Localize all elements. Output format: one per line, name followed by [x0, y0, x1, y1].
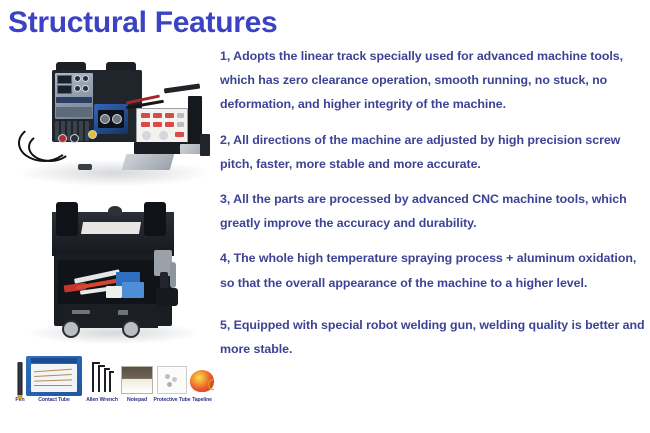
control-button[interactable] [153, 113, 162, 118]
allen-wrench-icon [85, 354, 119, 398]
case-wheel-left [62, 320, 80, 338]
features-list: 1, Adopts the linear track specially use… [220, 44, 648, 361]
panel-knob-4[interactable] [82, 85, 89, 92]
control-button[interactable] [141, 113, 150, 118]
accessory-label: Notepad [120, 398, 154, 403]
control-button[interactable] [165, 122, 174, 127]
accessory-allen-wrench: Allen Wrench [85, 354, 119, 403]
brand-strip [56, 97, 92, 103]
control-dial-left[interactable] [142, 131, 151, 140]
slide-canvas: Structural Features [0, 0, 650, 433]
accessory-contact-tube: Contact Tube [26, 354, 82, 403]
torch-cable-support [164, 84, 200, 94]
case-corner-right [144, 202, 166, 236]
display-screen-top [57, 75, 72, 84]
case-corner-left [56, 202, 78, 236]
accessory-label: Allen Wrench [85, 398, 119, 403]
feature-paragraph-1: 1, Adopts the linear track specially use… [220, 44, 648, 117]
feed-roller [100, 114, 110, 124]
photo-ground-shadow [20, 160, 210, 186]
feed-roller [112, 114, 122, 124]
panel-knob-2[interactable] [82, 75, 89, 82]
case-item-blue-box-2 [122, 282, 144, 298]
panel-knob-1[interactable] [74, 75, 81, 82]
control-button[interactable] [175, 132, 184, 137]
gun-spring-sheath [170, 262, 176, 288]
accessories-photo: Pen Contact Tube [2, 352, 214, 424]
accessory-notepad: Notepad [120, 354, 154, 403]
case-item-white-box [106, 286, 122, 298]
vent-slat [79, 121, 83, 141]
panel-knob-3[interactable] [74, 85, 81, 92]
feature-paragraph-4: 4, The whole high temperature spraying p… [220, 246, 648, 294]
case-wheel-right [122, 320, 140, 338]
control-button[interactable] [177, 122, 184, 127]
control-button[interactable] [165, 113, 174, 118]
control-button[interactable] [141, 122, 150, 127]
control-dial-right[interactable] [159, 131, 168, 140]
protective-tube-icon [152, 354, 192, 398]
display-screen-bottom [57, 85, 72, 94]
accessory-label: Tapeline [188, 398, 214, 403]
accessory-label: Protective Tube [152, 398, 192, 403]
accessory-label: Contact Tube [26, 398, 82, 403]
loose-fitting [78, 164, 92, 170]
notepad-icon [120, 354, 154, 398]
welding-cable-2 [28, 132, 72, 162]
control-button[interactable] [153, 122, 162, 127]
feature-paragraph-2: 2, All directions of the machine are adj… [220, 128, 648, 176]
case-lid-label [81, 222, 141, 234]
page-title: Structural Features [8, 6, 277, 41]
panel-vent [56, 107, 92, 117]
output-terminal-negative[interactable] [70, 134, 79, 143]
feature-paragraph-5: 5, Equipped with special robot welding g… [220, 313, 648, 361]
tool-case-photo [22, 198, 208, 346]
track-end-block [200, 134, 210, 156]
base-mounting-plate [122, 154, 175, 170]
welding-machine-photo [14, 52, 214, 192]
feature-paragraph-3: 3, All the parts are processed by advanc… [220, 187, 648, 235]
feeder-yellow-knob[interactable] [88, 130, 97, 139]
case-lid-knob[interactable] [108, 206, 122, 216]
contact-tube-pouch-icon [26, 354, 82, 398]
accessory-tapeline: Tapeline [188, 354, 214, 403]
tapeline-icon [188, 354, 214, 398]
carriage-control-box[interactable] [136, 108, 188, 144]
case-latch-left[interactable] [72, 310, 90, 314]
accessory-protective-tube: Protective Tube [152, 354, 192, 403]
welding-gun-head [156, 288, 178, 306]
control-button[interactable] [177, 113, 184, 118]
case-latch-right[interactable] [118, 310, 128, 315]
